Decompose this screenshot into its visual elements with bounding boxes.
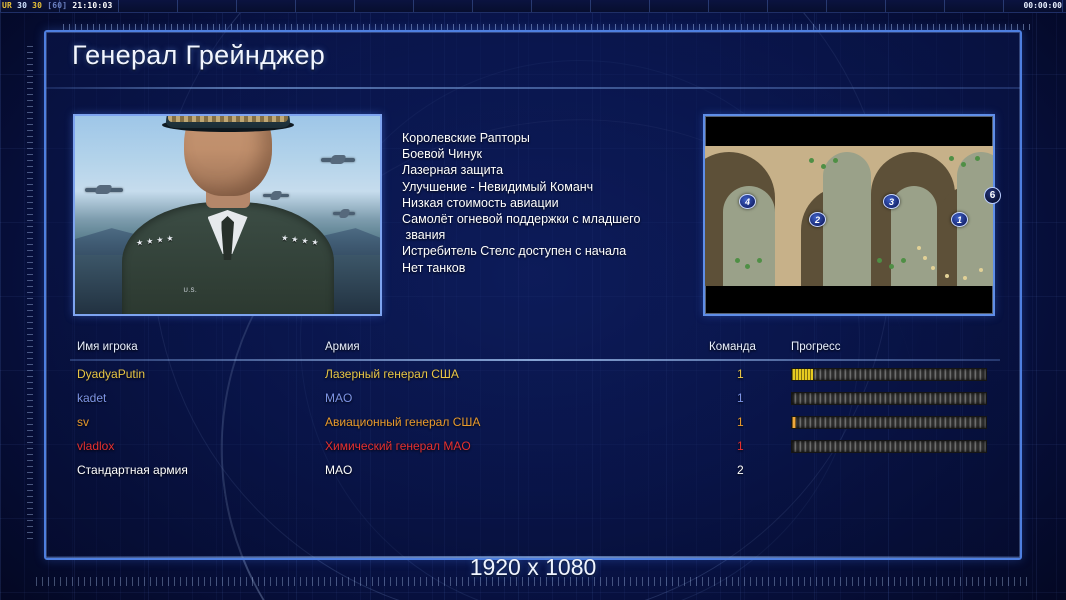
net-value-b: 30 bbox=[32, 1, 42, 10]
player-team: 1 bbox=[737, 391, 744, 405]
player-name: sv bbox=[77, 415, 89, 429]
player-team: 1 bbox=[737, 415, 744, 429]
player-name: kadet bbox=[77, 391, 106, 405]
player-name: DyadyaPutin bbox=[77, 367, 145, 381]
player-name: vladlox bbox=[77, 439, 114, 453]
map-terrain: 4 2 3 1 bbox=[705, 146, 993, 286]
player-team: 1 bbox=[737, 439, 744, 453]
feature-item: Боевой Чинук bbox=[402, 146, 702, 162]
player-team: 1 bbox=[737, 367, 744, 381]
column-header-army: Армия bbox=[325, 341, 360, 353]
aircraft-icon bbox=[321, 158, 355, 162]
title-divider bbox=[46, 87, 1020, 89]
net-prefix: UR bbox=[2, 1, 12, 10]
map-tree-icon bbox=[809, 158, 814, 163]
map-tree-icon bbox=[821, 164, 826, 169]
progress-bar bbox=[791, 440, 987, 453]
aircraft-icon bbox=[333, 212, 355, 215]
map-cell bbox=[823, 152, 871, 286]
top-status-bar: UR 30 30 [60] 21:10:03 00:00:00 bbox=[0, 0, 1066, 13]
map-start-position-1: 1 bbox=[951, 212, 968, 227]
map-detail bbox=[945, 274, 949, 278]
map-detail bbox=[917, 246, 921, 250]
player-name: Стандартная армия bbox=[77, 463, 188, 477]
player-team: 2 bbox=[737, 463, 744, 477]
net-bracket: [60] bbox=[47, 1, 67, 10]
status-bar-ticks bbox=[0, 0, 1066, 12]
map-tree-icon bbox=[961, 162, 966, 167]
map-tree-icon bbox=[889, 264, 894, 269]
feature-item: Истребитель Стелс доступен с начала bbox=[402, 243, 702, 259]
general-portrait: ★★★★ ★★★★ U.S. bbox=[73, 114, 382, 316]
map-detail bbox=[979, 268, 983, 272]
system-clock: 21:10:03 bbox=[72, 1, 112, 10]
table-row[interactable]: DyadyaPutinЛазерный генерал США1 bbox=[73, 364, 997, 388]
map-preview[interactable]: 4 2 3 1 bbox=[703, 114, 995, 316]
network-stats: UR 30 30 [60] 21:10:03 bbox=[2, 1, 112, 10]
map-tree-icon bbox=[949, 156, 954, 161]
column-header-progress: Прогресс bbox=[791, 341, 841, 353]
player-army: Химический генерал MAO bbox=[325, 439, 471, 453]
title-bar: Генерал Грейнджер bbox=[46, 32, 1020, 88]
map-tree-icon bbox=[745, 264, 750, 269]
feature-item: Королевские Рапторы bbox=[402, 130, 702, 146]
map-tree-icon bbox=[877, 258, 882, 263]
player-army: MAO bbox=[325, 391, 352, 405]
table-header-divider bbox=[70, 359, 1000, 361]
map-start-position-3: 3 bbox=[883, 194, 900, 209]
map-start-position-4: 4 bbox=[739, 194, 756, 209]
player-table-header: Имя игрока Армия Команда Прогресс bbox=[73, 341, 995, 359]
resolution-label: 1920 x 1080 bbox=[0, 554, 1066, 581]
map-tree-icon bbox=[901, 258, 906, 263]
progress-bar-fill bbox=[792, 369, 813, 380]
general-uniform: ★★★★ ★★★★ U.S. bbox=[122, 202, 334, 316]
player-army: MAO bbox=[325, 463, 352, 477]
map-tree-icon bbox=[757, 258, 762, 263]
page-title: Генерал Грейнджер bbox=[72, 40, 325, 71]
map-tree-icon bbox=[833, 158, 838, 163]
aircraft-icon bbox=[85, 188, 123, 192]
player-table-body: DyadyaPutinЛазерный генерал США1kadetMAO… bbox=[73, 364, 997, 554]
table-row[interactable]: kadetMAO1 bbox=[73, 388, 997, 412]
map-detail bbox=[963, 276, 967, 280]
game-timer: 00:00:00 bbox=[1023, 1, 1062, 10]
column-header-name: Имя игрока bbox=[77, 341, 138, 353]
progress-bar bbox=[791, 392, 987, 405]
map-detail bbox=[923, 256, 927, 260]
feature-item: Лазерная защита bbox=[402, 162, 702, 178]
feature-item: Улучшение - Невидимый Команч bbox=[402, 179, 702, 195]
table-row[interactable]: svАвиационный генерал США1 bbox=[73, 412, 997, 436]
column-header-team: Команда bbox=[709, 341, 756, 353]
progress-bar bbox=[791, 368, 987, 381]
main-panel: Генерал Грейнджер ★★★★ ★★★★ U.S. bbox=[44, 30, 1022, 560]
feature-item: Нет танков bbox=[402, 260, 702, 276]
rank-stars-right: ★★★★ bbox=[280, 233, 322, 248]
progress-bar-fill bbox=[792, 417, 796, 428]
feature-item: Самолёт огневой поддержки с младшего зва… bbox=[402, 211, 702, 243]
map-detail bbox=[931, 266, 935, 270]
cap-scrambled-eggs bbox=[168, 114, 288, 122]
map-tree-icon bbox=[975, 156, 980, 161]
table-row[interactable]: vladloxХимический генерал MAO1 bbox=[73, 436, 997, 460]
portrait-image: ★★★★ ★★★★ U.S. bbox=[75, 116, 380, 314]
map-player-count-badge: 6 bbox=[984, 187, 1001, 204]
game-screen: UR 30 30 [60] 21:10:03 00:00:00 Генерал … bbox=[0, 0, 1066, 600]
frame-ruler-left bbox=[27, 46, 33, 542]
map-start-position-2: 2 bbox=[809, 212, 826, 227]
rank-stars-left: ★★★★ bbox=[135, 233, 177, 248]
player-army: Лазерный генерал США bbox=[325, 367, 459, 381]
table-row[interactable]: Стандартная армияMAO2 bbox=[73, 460, 997, 484]
uniform-us-tag: U.S. bbox=[184, 288, 198, 294]
aircraft-icon bbox=[263, 194, 289, 197]
feature-item: Низкая стоимость авиации bbox=[402, 195, 702, 211]
progress-bar bbox=[791, 416, 987, 429]
map-tree-icon bbox=[735, 258, 740, 263]
net-value-a: 30 bbox=[17, 1, 27, 10]
player-army: Авиационный генерал США bbox=[325, 415, 480, 429]
general-features-list: Королевские Рапторы Боевой Чинук Лазерна… bbox=[402, 130, 702, 276]
